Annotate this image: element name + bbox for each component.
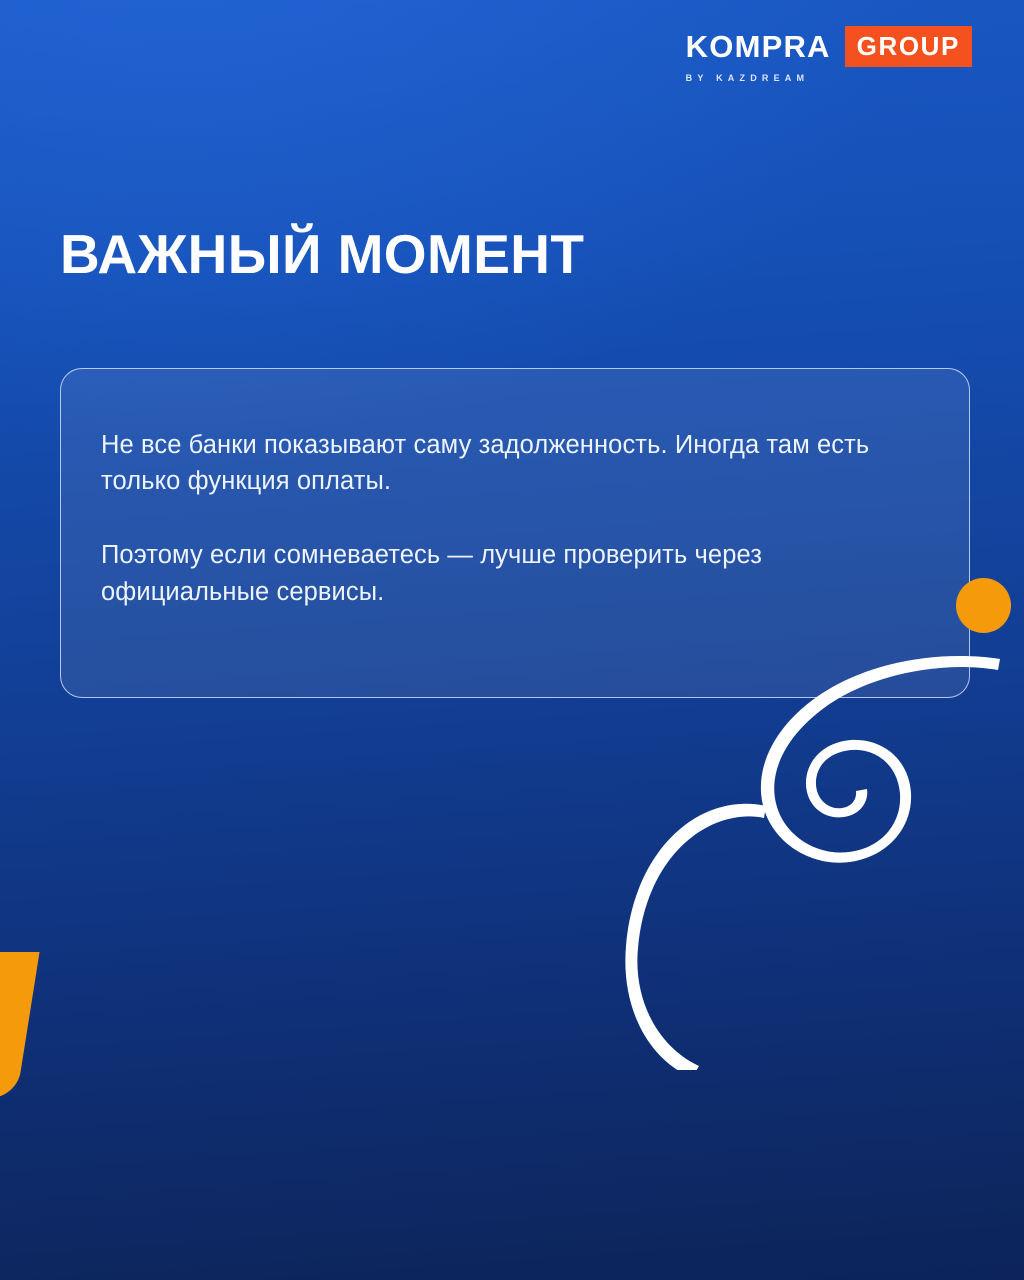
message-card: Не все банки показывают саму задолженнос… — [60, 368, 970, 698]
orange-wedge-icon — [0, 952, 40, 1098]
message-paragraph-2: Поэтому если сомневаетесь — лучше провер… — [101, 537, 913, 609]
message-paragraph-1: Не все банки показывают саму задолженнос… — [101, 427, 913, 499]
logo-row: KOMPRA GROUP — [686, 26, 972, 67]
logo-tagline: BY KAZDREAM — [686, 74, 810, 83]
message-card-body: Не все банки показывают саму задолженнос… — [61, 369, 969, 610]
slide-canvas: KOMPRA GROUP BY KAZDREAM ВАЖНЫЙ МОМЕНТ Н… — [0, 0, 1024, 1280]
logo-group-badge: GROUP — [845, 26, 972, 67]
brand-logo: KOMPRA GROUP BY KAZDREAM — [686, 26, 972, 83]
page-title: ВАЖНЫЙ МОМЕНТ — [60, 226, 584, 284]
logo-wordmark: KOMPRA — [686, 31, 831, 62]
orange-circle-icon — [956, 578, 1011, 633]
